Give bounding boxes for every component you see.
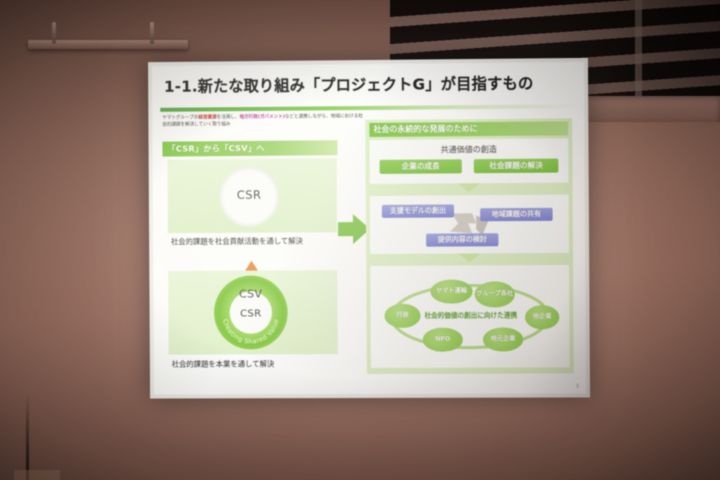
left-caption-bottom: 社会的課題を本業を通して解決 — [172, 358, 361, 370]
projection-screen: 1-1.新たな取り組み「プロジェクトG」が目指すもの ヤマトグループの経営資源を… — [148, 58, 590, 399]
lead-emphasis-1: 経営資源 — [198, 115, 216, 120]
shared-value-title: 共通価値の創造 — [369, 143, 568, 156]
left-panel: 「CSR」から「CSV」へ CSR 社会的課題を社会貢献活動を通して解決 CSV… — [162, 140, 362, 377]
lead-emphasis-2: 地方行政(ガバメント) — [240, 115, 285, 120]
chip-offering-review: 提供内容の検討 — [426, 233, 498, 246]
support-model-section: 支援モデルの創出 地域課題の共有 提供内容の検討 — [370, 195, 569, 254]
node-npo: NPO — [423, 328, 463, 352]
slide-page-number: 3 — [576, 384, 579, 389]
floor-edge — [14, 470, 60, 480]
node-local-companies: 地元企業 — [483, 327, 523, 351]
right-panel: 社会の永続的な発展のために 共通価値の創造 企業の成長 社会課題の解決 支援モデ… — [365, 118, 573, 374]
screen-hook-right — [150, 22, 154, 44]
csr-box: CSR — [167, 158, 337, 233]
csv-box: CSV CSR Creating Shared Value — [168, 270, 338, 355]
left-caption-top: 社会的課題を社会貢献活動を通して解決 — [171, 236, 360, 248]
chip-corporate-growth: 企業の成長 — [380, 159, 462, 174]
chevron-down-icon-1 — [458, 183, 480, 192]
title-underline-rule — [160, 104, 582, 112]
lead-part-2: を活用し、 — [217, 115, 240, 120]
right-panel-header: 社会の永続的な発展のために — [369, 121, 568, 137]
room-photograph: 1-1.新たな取り組み「プロジェクトG」が目指すもの ヤマトグループの経営資源を… — [0, 0, 720, 480]
curved-text-svg: Creating Shared Value — [214, 275, 288, 349]
chip-support-model-creation: 支援モデルの創出 — [382, 204, 454, 217]
lead-part-1: ヤマトグループの — [162, 115, 198, 120]
wall-seam — [26, 392, 29, 480]
collaboration-section: ヤマト運輸 グループ各社 行政 他企業 NPO 地元企業 社会的価値の創出に向け… — [370, 265, 569, 368]
presentation-slide: 1-1.新たな取り組み「プロジェクトG」が目指すもの ヤマトグループの経営資源を… — [152, 62, 586, 395]
lead-paragraph: ヤマトグループの経営資源を活用し、地方行政(ガバメント)などと連携しながら、地域… — [162, 114, 366, 130]
cycle-center-label: 社会的価値の創出に向けた連携 — [409, 309, 534, 320]
screen-hook-left — [52, 22, 56, 44]
csr-circle-label: CSR — [220, 188, 278, 202]
shared-value-section: 共通価値の創造 企業の成長 社会課題の解決 — [369, 138, 568, 184]
left-panel-header: 「CSR」から「CSV」へ — [162, 140, 337, 156]
chip-social-issue-solution: 社会課題の解決 — [474, 159, 559, 174]
slat-post — [635, 0, 642, 104]
csv-ring-curved-label: Creating Shared Value — [221, 318, 280, 346]
chevron-down-icon-2 — [458, 253, 480, 262]
node-group-companies: グループ各社 — [475, 281, 515, 307]
csr-circle: CSR — [219, 167, 279, 227]
page-title: 1-1.新たな取り組み「プロジェクトG」が目指すもの — [164, 71, 574, 97]
collaboration-cycle: ヤマト運輸 グループ各社 行政 他企業 NPO 地元企業 社会的価値の創出に向け… — [378, 273, 561, 360]
node-yamato-transport: ヤマト運輸 — [430, 279, 472, 303]
chip-regional-issue-sharing: 地域課題の共有 — [480, 208, 553, 222]
csv-ring: CSV CSR Creating Shared Value — [214, 275, 288, 349]
